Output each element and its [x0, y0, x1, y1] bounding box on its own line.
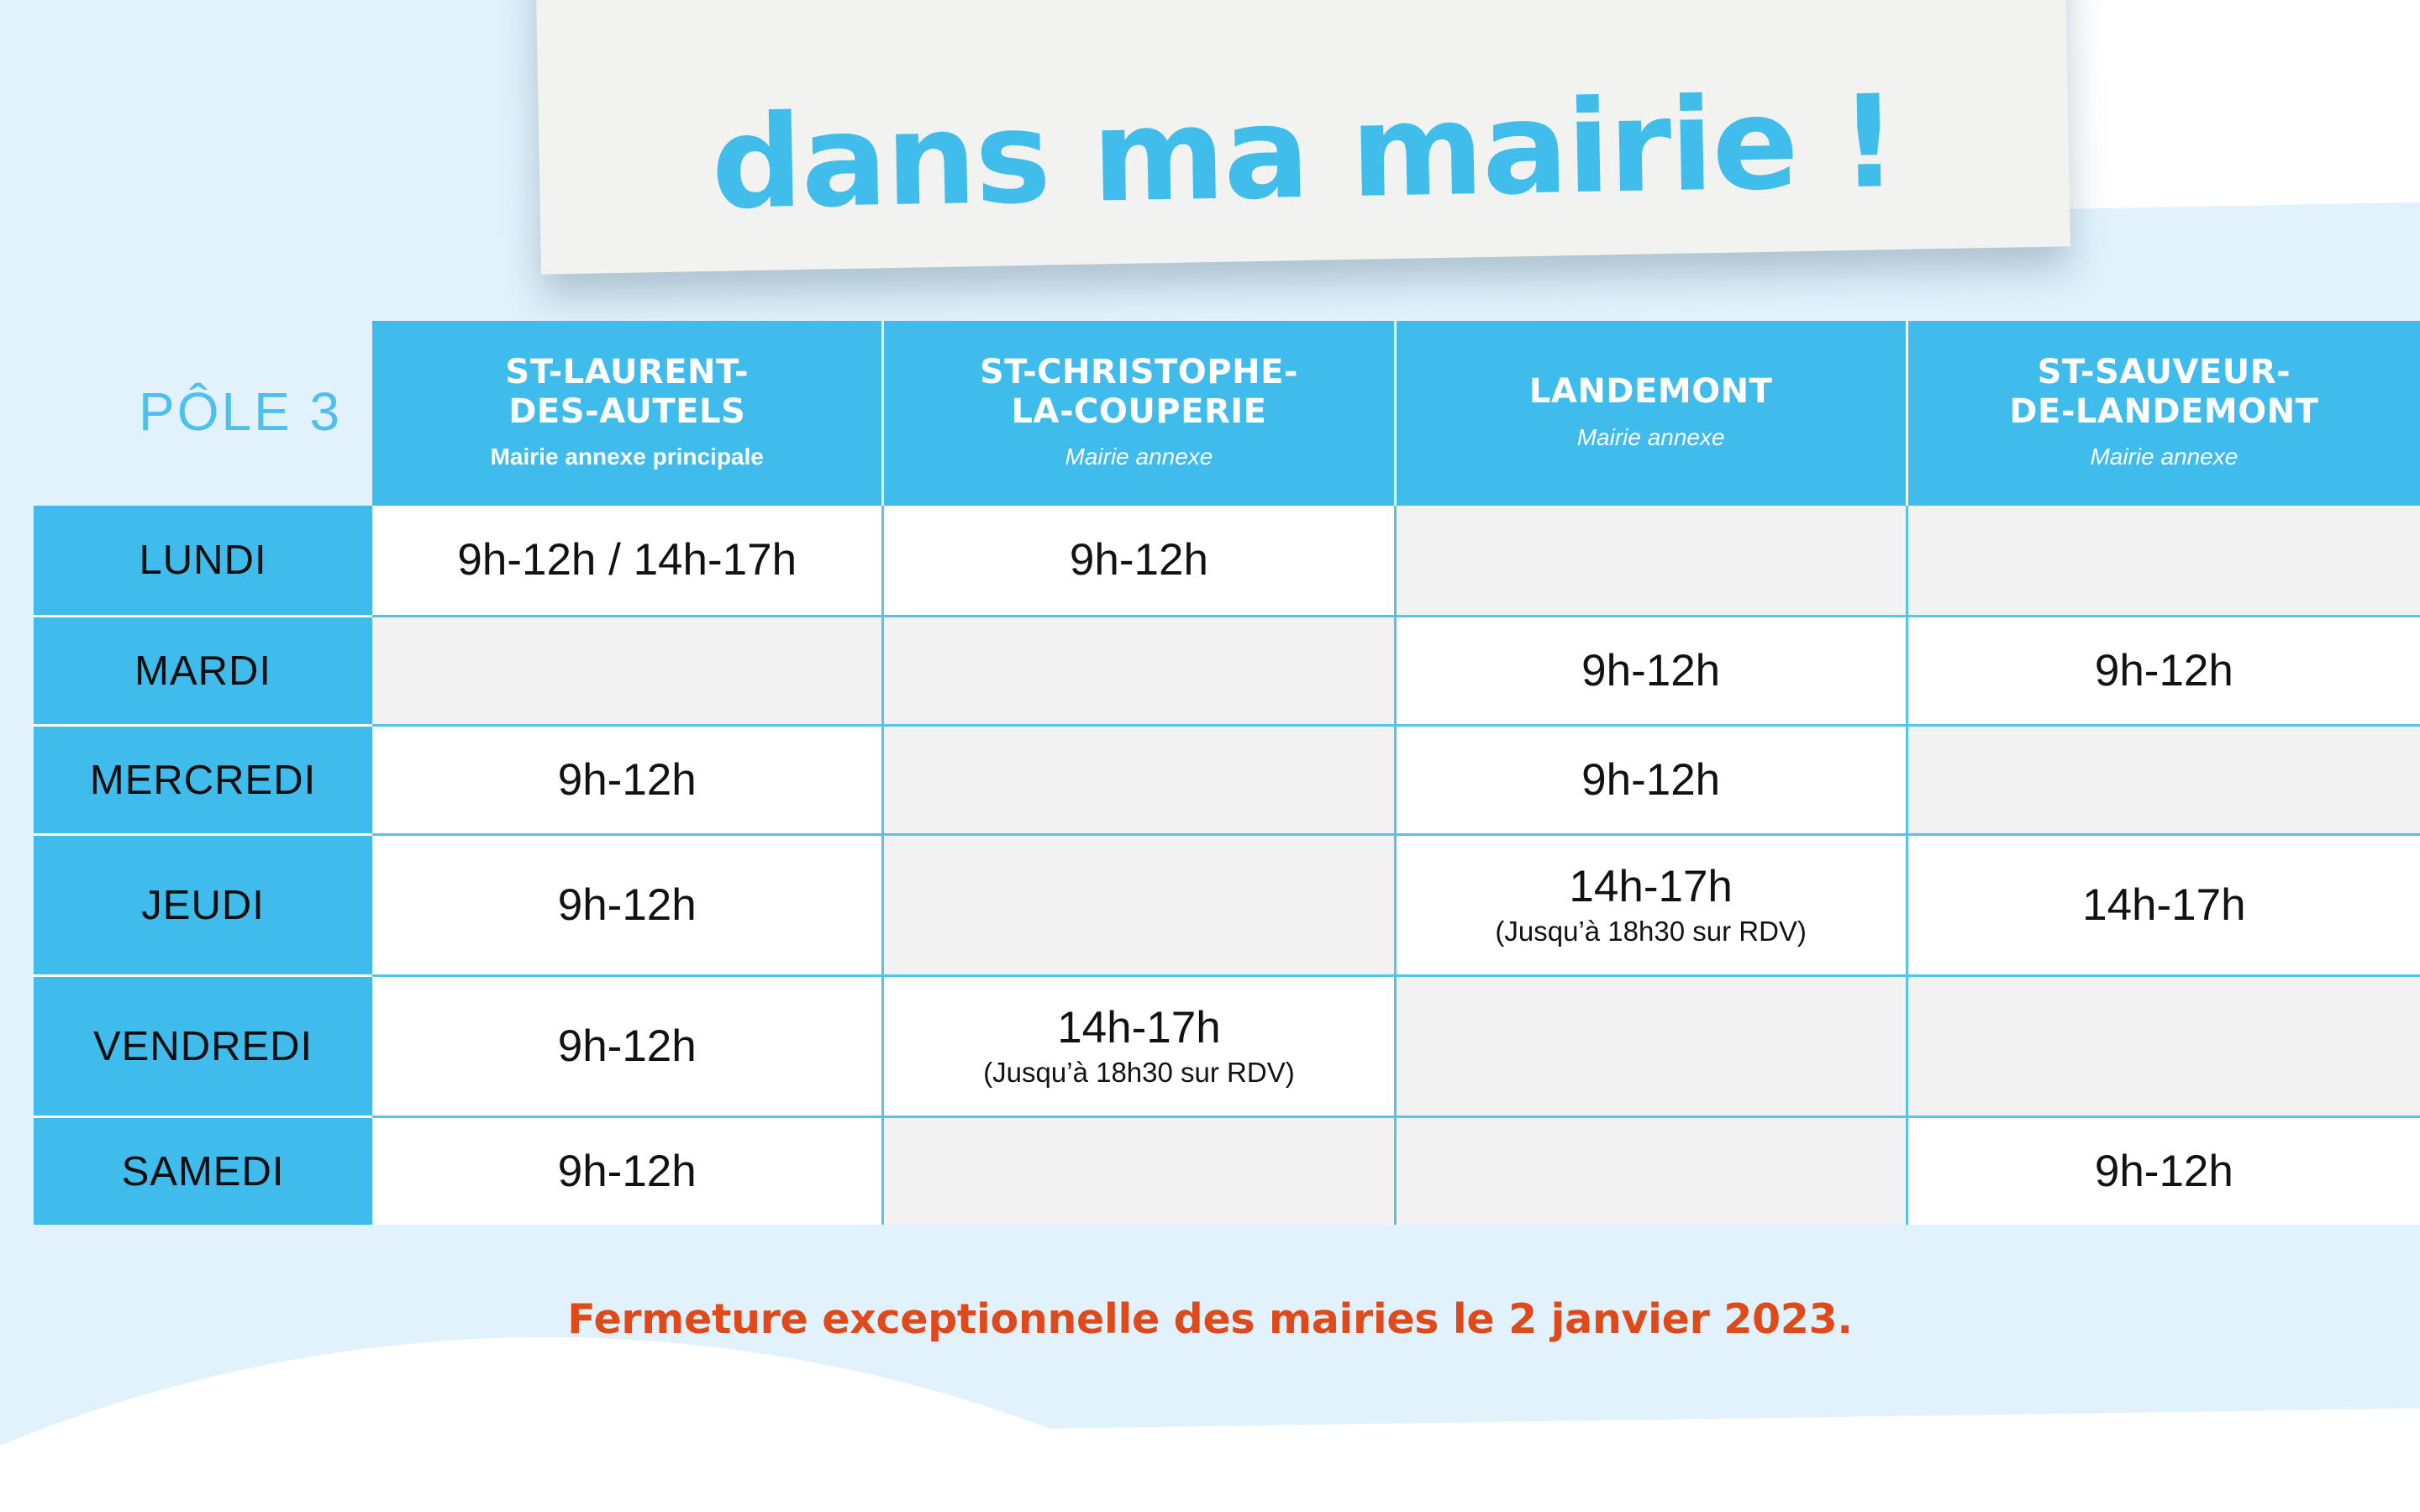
column-header-subtitle: Mairie annexe principale: [384, 444, 870, 470]
column-header-subtitle: Mairie annexe: [1408, 425, 1894, 451]
schedule-cell: 9h-12h: [1908, 1116, 2420, 1225]
schedule-time: 14h-17h: [1915, 881, 2413, 929]
schedule-cell-empty: [884, 1116, 1396, 1225]
schedule-note: (Jusqu’à 18h30 sur RDV): [1403, 916, 1899, 948]
schedule-cell-empty: [1397, 974, 1908, 1116]
table-row: VENDREDI 9h-12h 14h-17h (Jusqu’à 18h30 s…: [34, 974, 2420, 1116]
schedule-cell: 9h-12h: [1397, 724, 1908, 833]
schedule-time: 9h-12h: [891, 536, 1386, 584]
closure-notice: Fermeture exceptionnelle des mairies le …: [0, 1295, 2420, 1343]
schedule-time: 9h-12h: [379, 1147, 875, 1195]
schedule-time: 14h-17h: [1403, 863, 1899, 911]
column-header-name-line: ST-LAURENT-: [384, 353, 870, 391]
table-row: SAMEDI 9h-12h 9h-12h: [34, 1116, 2420, 1225]
table-header: PÔLE 3 ST-LAURENT- DES-AUTELS Mairie ann…: [34, 321, 2420, 506]
day-label-jeudi: JEUDI: [34, 833, 372, 974]
poster-title: dans ma mairie !: [710, 78, 1897, 228]
column-header-name-line: DES-AUTELS: [384, 392, 870, 431]
table-row: JEUDI 9h-12h 14h-17h (Jusqu’à 18h30 sur …: [34, 833, 2420, 974]
schedule-table: PÔLE 3 ST-LAURENT- DES-AUTELS Mairie ann…: [34, 321, 2420, 1225]
schedule-time: 9h-12h: [1915, 1147, 2413, 1195]
schedule-time: 14h-17h: [891, 1004, 1386, 1052]
schedule-cell-empty: [1397, 1116, 1908, 1225]
schedule-cell-empty: [884, 615, 1396, 724]
schedule-time: 9h-12h: [1403, 647, 1899, 695]
column-header-st-christophe-la-couperie: ST-CHRISTOPHE- LA-COUPERIE Mairie annexe: [884, 321, 1396, 506]
schedule-cell: 9h-12h: [372, 1116, 884, 1225]
schedule-cell-empty: [884, 724, 1396, 833]
schedule-cell: 14h-17h (Jusqu’à 18h30 sur RDV): [884, 974, 1396, 1116]
column-header-name-line: DE-LANDEMONT: [1920, 392, 2408, 431]
schedule-time: 9h-12h: [1915, 647, 2413, 695]
column-header-subtitle: Mairie annexe: [1920, 444, 2408, 470]
table-row: MARDI 9h-12h 9h-12h: [34, 615, 2420, 724]
schedule-cell: 9h-12h: [884, 506, 1396, 615]
pole-label: PÔLE 3: [139, 381, 342, 442]
schedule-table-container: PÔLE 3 ST-LAURENT- DES-AUTELS Mairie ann…: [0, 321, 2420, 1225]
day-label-samedi: SAMEDI: [34, 1116, 372, 1225]
column-header-name-line: ST-CHRISTOPHE-: [896, 353, 1381, 391]
day-label-mercredi: MERCREDI: [34, 724, 372, 833]
column-header-landemont: LANDEMONT Mairie annexe: [1397, 321, 1908, 506]
schedule-cell: 9h-12h: [372, 833, 884, 974]
column-header-name: ST-SAUVEUR- DE-LANDEMONT: [1920, 353, 2408, 431]
poster-root: dans ma mairie ! PÔLE 3 ST-LAURENT-: [0, 0, 2420, 1512]
schedule-cell-empty: [1908, 724, 2420, 833]
schedule-cell-empty: [372, 615, 884, 724]
column-header-name: LANDEMONT: [1408, 372, 1894, 411]
schedule-cell: 9h-12h / 14h-17h: [372, 506, 884, 615]
schedule-time: 9h-12h: [379, 756, 875, 804]
column-header-name-line: LA-COUPERIE: [896, 392, 1381, 431]
schedule-cell: 9h-12h: [372, 724, 884, 833]
schedule-time: 9h-12h: [379, 1022, 875, 1070]
column-header-st-sauveur-de-landemont: ST-SAUVEUR- DE-LANDEMONT Mairie annexe: [1908, 321, 2420, 506]
day-label-lundi: LUNDI: [34, 506, 372, 615]
schedule-cell: 9h-12h: [1397, 615, 1908, 724]
schedule-note: (Jusqu’à 18h30 sur RDV): [891, 1057, 1386, 1089]
table-header-row: PÔLE 3 ST-LAURENT- DES-AUTELS Mairie ann…: [34, 321, 2420, 506]
schedule-time: 9h-12h: [379, 881, 875, 929]
title-banner-card: dans ma mairie !: [534, 0, 2070, 275]
schedule-cell-empty: [1397, 506, 1908, 615]
column-header-subtitle: Mairie annexe: [896, 444, 1381, 470]
day-label-mardi: MARDI: [34, 615, 372, 724]
schedule-cell: 9h-12h: [372, 974, 884, 1116]
schedule-cell-empty: [884, 833, 1396, 974]
schedule-cell: 14h-17h: [1908, 833, 2420, 974]
column-header-name-line: ST-SAUVEUR-: [1920, 353, 2408, 391]
schedule-cell-empty: [1908, 506, 2420, 615]
column-header-st-laurent-des-autels: ST-LAURENT- DES-AUTELS Mairie annexe pri…: [372, 321, 884, 506]
schedule-cell-empty: [1908, 974, 2420, 1116]
table-row: MERCREDI 9h-12h 9h-12h: [34, 724, 2420, 833]
day-label-vendredi: VENDREDI: [34, 974, 372, 1116]
column-header-name: ST-LAURENT- DES-AUTELS: [384, 353, 870, 431]
schedule-time: 9h-12h: [1403, 756, 1899, 804]
schedule-time: 9h-12h / 14h-17h: [379, 536, 875, 584]
table-row: LUNDI 9h-12h / 14h-17h 9h-12h: [34, 506, 2420, 615]
column-header-name-line: LANDEMONT: [1408, 372, 1894, 411]
schedule-cell: 9h-12h: [1908, 615, 2420, 724]
table-body: LUNDI 9h-12h / 14h-17h 9h-12h: [34, 506, 2420, 1225]
schedule-cell: 14h-17h (Jusqu’à 18h30 sur RDV): [1397, 833, 1908, 974]
pole-label-cell: PÔLE 3: [34, 321, 372, 506]
column-header-name: ST-CHRISTOPHE- LA-COUPERIE: [896, 353, 1381, 431]
